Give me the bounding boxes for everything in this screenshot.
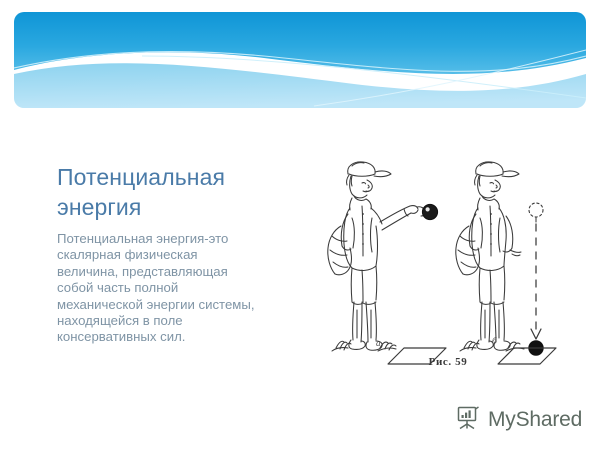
figure-sublabel-a: а — [376, 338, 381, 348]
figure-b-boy — [456, 162, 524, 351]
page-title: Потенциальная энергия — [57, 162, 272, 222]
text-column: Потенциальная энергия Потенциальная энер… — [57, 162, 272, 346]
fall-trajectory — [498, 203, 556, 364]
myshared-label: MyShared — [488, 408, 582, 432]
body-paragraph: Потенциальная энергия-это скалярная физи… — [57, 231, 262, 346]
slide-canvas: Потенциальная энергия Потенциальная энер… — [0, 0, 600, 450]
easel-chart-icon — [455, 404, 481, 435]
figure-caption: Рис. 59 — [318, 356, 578, 368]
figure-sublabel-b: б — [492, 336, 497, 346]
figure-a-boy — [328, 162, 446, 364]
myshared-watermark: MyShared — [455, 404, 582, 435]
decorative-wave-banner — [14, 12, 586, 108]
physics-illustration — [318, 152, 578, 382]
